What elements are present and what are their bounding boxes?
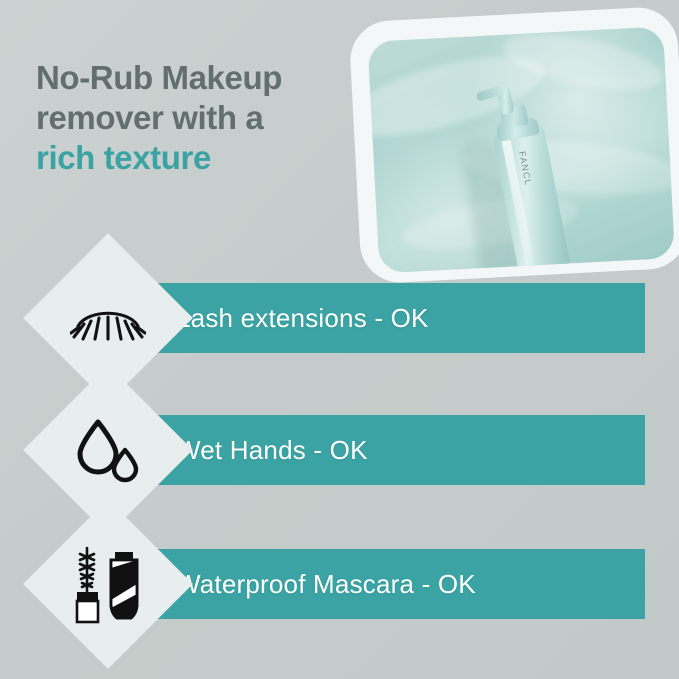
feature-label: Waterproof Mascara - OK xyxy=(176,549,476,619)
feature-label: Wet Hands - OK xyxy=(176,415,368,485)
feature-label: Lash extensions - OK xyxy=(176,283,429,353)
eyelash-icon xyxy=(48,258,168,378)
headline-line-2: remover with a xyxy=(36,98,366,138)
infographic-canvas: No-Rub Makeup remover with a rich textur… xyxy=(0,0,679,679)
feature-row: Wet Hands - OK xyxy=(0,390,679,510)
page-title: No-Rub Makeup remover with a rich textur… xyxy=(36,58,366,178)
feature-row: Lash extensions - OK xyxy=(0,258,679,378)
mascara-icon xyxy=(48,524,168,644)
product-photo-card: FANCL xyxy=(348,6,679,285)
headline-line-1: No-Rub Makeup xyxy=(36,58,366,98)
product-photo: FANCL xyxy=(367,26,675,273)
feature-row: Waterproof Mascara - OK xyxy=(0,524,679,644)
water-droplet-icon xyxy=(48,390,168,510)
headline-line-3-accent: rich texture xyxy=(36,138,366,178)
